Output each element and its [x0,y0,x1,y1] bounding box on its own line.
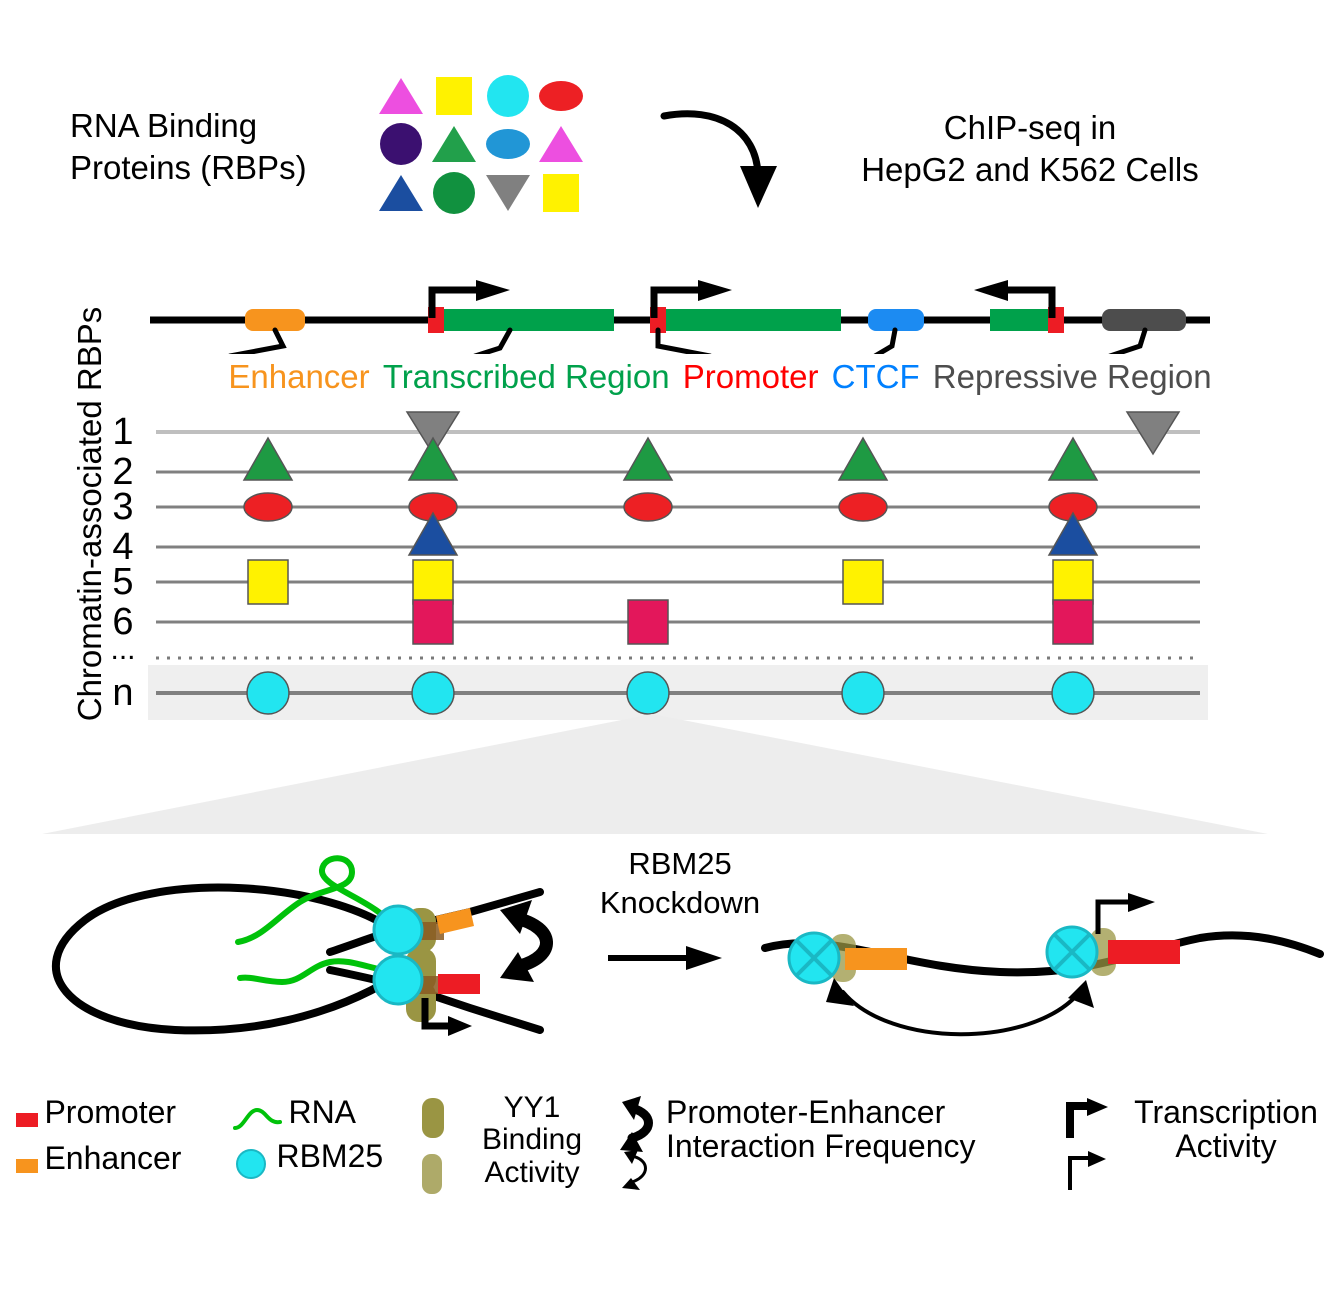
rbp-shape-triangle-up [379,78,423,114]
matrix-row-label-n: n [102,674,144,712]
chip-label-line2: HepG2 and K562 Cells [770,149,1290,191]
legend-enhancer: Enhancer [226,358,371,395]
linear-chromatin-after-knockdown [765,893,1320,1034]
legend-ctcf: CTCF [830,358,922,395]
legend-item-yy1: YY1 Binding Activity [452,1092,612,1189]
tss-arrow-icon [1064,1098,1110,1194]
legend-transcribed-region: Transcribed Region [381,358,672,395]
legend-tx-line1: Transcription [1108,1096,1344,1130]
legend-yy1-line3: Activity [452,1157,612,1189]
rbp-shape-ellipse [539,81,583,111]
matrix-mark-circle [627,672,669,714]
matrix-mark-triangle-up [409,513,457,555]
rbp-shape-circle [487,75,529,117]
gene-track-diagram [150,278,1210,354]
top-section: RNA Binding Proteins (RBPs) ChIP-seq in … [0,0,1344,250]
rbp-shape-grid [374,72,588,217]
legend-pe-line1: Promoter-Enhancer [666,1096,976,1130]
gene-feature-repressive [1102,309,1186,331]
matrix-mark-circle [412,672,454,714]
matrix-mark-ellipse [839,493,887,521]
legend-item-rbm25: RBM25 [232,1140,383,1180]
legend-enhancer-label: Enhancer [44,1140,181,1176]
matrix-mark-triangle-up [1049,438,1097,480]
matrix-row-label-dotsdotsdots: ... [102,635,144,665]
rbp-title-line1: RNA Binding [70,105,370,147]
legend-pe-line2: Interaction Frequency [666,1130,976,1164]
matrix-mark-circle [247,672,289,714]
legend-rbm25-label: RBM25 [276,1138,383,1174]
knockdown-line1: RBM25 [560,845,800,884]
matrix-row-label-5: 5 [102,563,144,601]
matrix-mark-square [413,560,453,604]
legend-repressive-region: Repressive Region [931,358,1214,395]
rbp-shape-triangle-up [539,126,583,162]
rbm25-knockdown-label: RBM25 Knockdown [560,845,800,923]
legend-item-rna: RNA [232,1096,356,1132]
matrix-mark-square [413,600,453,644]
matrix-mark-square [628,600,668,644]
rbp-binding-matrix: 123456...n [148,410,1208,720]
gene-track-legend: Enhancer Transcribed Region Promoter CTC… [100,358,1340,396]
curved-double-arrow-icon [614,1094,660,1196]
rbp-shape-triangle-up [432,126,476,162]
legend-yy1-line1: YY1 [452,1092,612,1124]
matrix-row-label-1: 1 [102,413,144,451]
gene-feature-ctcf [868,309,924,331]
chip-label-line1: ChIP-seq in [770,107,1290,149]
legend-item-promoter: Promoter [14,1096,176,1130]
gene-feature-transcribed [444,309,614,331]
rbp-shape-circle [433,172,475,214]
legend-promoter-label: Promoter [44,1094,176,1130]
legend-yy1-line2: Binding [452,1124,612,1156]
matrix-row-label-3: 3 [102,488,144,526]
matrix-mark-triangle-up [409,438,457,480]
legend-rna-label: RNA [288,1094,356,1130]
matrix-mark-square [1053,560,1093,604]
rna-squiggle-icon [232,1106,284,1132]
matrix-mark-ellipse [244,493,292,521]
rbp-title: RNA Binding Proteins (RBPs) [70,105,370,189]
knockdown-line2: Knockdown [560,884,800,923]
rbp-shape-square [543,174,579,212]
legend-item-pe-interaction: Promoter-Enhancer Interaction Frequency [666,1096,976,1163]
legend-item-transcription: Transcription Activity [1108,1096,1344,1163]
matrix-mark-ellipse [624,493,672,521]
rbp-shape-triangle-up [379,175,423,211]
legend-item-enhancer: Enhancer [14,1142,181,1176]
matrix-mark-circle [842,672,884,714]
rbp-shape-ellipse [486,129,530,159]
matrix-mark-square [1053,600,1093,644]
rbp-title-line2: Proteins (RBPs) [70,147,370,189]
legend-tx-line2: Activity [1108,1130,1344,1164]
right-arrow-icon [608,946,722,970]
rbp-shape-triangle-down [486,175,530,211]
gene-feature-transcribed [666,309,841,331]
rbp-shape-circle [380,123,422,165]
rbm25-circle-icon [232,1146,272,1180]
enhancer-swatch-icon [14,1155,40,1175]
legend-promoter: Promoter [681,358,821,395]
gene-feature-transcribed [990,309,1052,331]
rbp-shape-square [436,77,472,115]
promoter-swatch-icon [14,1109,40,1129]
matrix-mark-triangle-up [244,438,292,480]
interaction-frequency-icons [614,1094,660,1201]
bottom-legend: Promoter Enhancer RNA RBM25 YY1 Binding … [0,1090,1344,1210]
matrix-mark-square [843,560,883,604]
looped-chromatin-with-rbm25 [56,858,547,1036]
rbp-binding-matrix-plot [148,410,1208,720]
matrix-mark-triangle-up [839,438,887,480]
matrix-mark-square [248,560,288,604]
yy1-binding-blob-icon [414,1092,450,1204]
matrix-mark-triangle-up [1049,513,1097,555]
zoom-funnel-shape [40,712,1270,837]
yy1-blob-icons [414,1092,450,1209]
transcription-activity-icons [1064,1098,1110,1199]
matrix-mark-triangle-up [624,438,672,480]
chip-seq-label: ChIP-seq in HepG2 and K562 Cells [770,107,1290,191]
matrix-mark-circle [1052,672,1094,714]
